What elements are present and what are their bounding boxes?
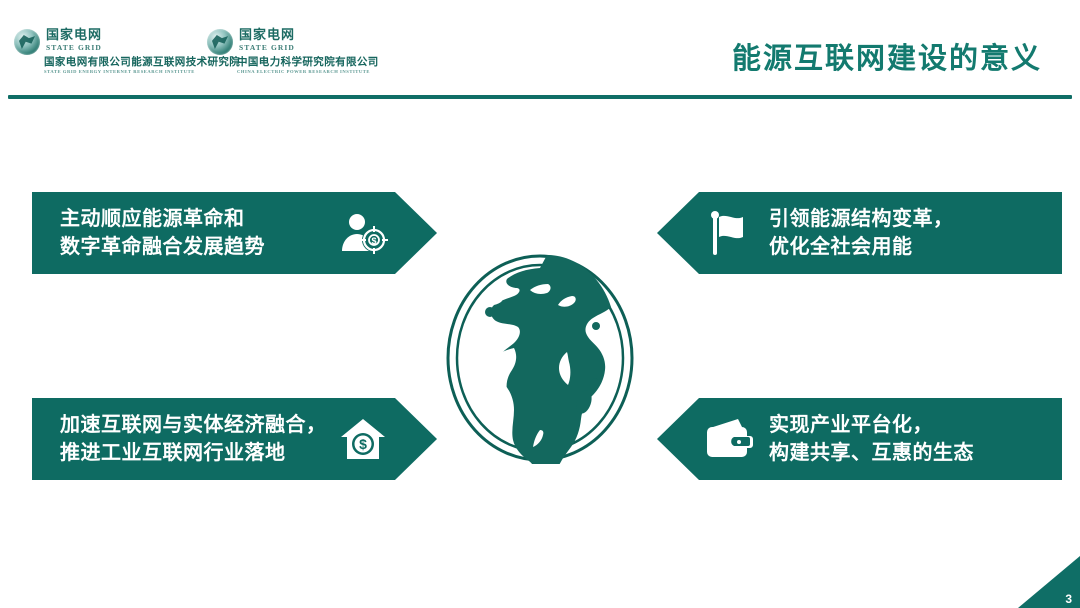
- banner-line-2: 推进工业互联网行业落地: [60, 439, 327, 467]
- banner-line-2: 构建共享、互惠的生态: [769, 439, 974, 467]
- page-title: 能源互联网建设的意义: [732, 42, 1042, 76]
- banner-line-1: 实现产业平台化，: [769, 411, 974, 439]
- slide: 国家电网 STATE GRID 国家电网有限公司能源互联网技术研究院 STATE…: [0, 0, 1080, 608]
- wallet-icon: [703, 413, 755, 465]
- globe-icon: [444, 252, 636, 464]
- banner-top-left[interactable]: 主动顺应能源革命和 数字革命融合发展趋势 $: [32, 192, 437, 274]
- svg-text:$: $: [371, 236, 376, 246]
- banner-text-block: 实现产业平台化， 构建共享、互惠的生态: [769, 411, 974, 467]
- state-grid-globe-logo-icon: [207, 29, 233, 55]
- logo-sub-en: CHINA ELECTRIC POWER RESEARCH INSTITUTE: [237, 68, 379, 75]
- logo-name-en: STATE GRID: [46, 42, 102, 53]
- page-number: 3: [1065, 593, 1072, 605]
- logo-subtitle-1: 国家电网有限公司能源互联网技术研究院 STATE GRID ENERGY INT…: [44, 56, 240, 75]
- logo-china-epri: 国家电网 STATE GRID: [207, 28, 295, 55]
- logo-sub-en: STATE GRID ENERGY INTERNET RESEARCH INST…: [44, 68, 240, 75]
- logo-name-cn: 国家电网: [239, 28, 295, 42]
- logo-sub-cn: 国家电网有限公司能源互联网技术研究院: [44, 56, 240, 68]
- slide-header: 国家电网 STATE GRID 国家电网有限公司能源互联网技术研究院 STATE…: [0, 0, 1080, 100]
- logo-name-cn: 国家电网: [46, 28, 102, 42]
- banner-bottom-left[interactable]: 加速互联网与实体经济融合， 推进工业互联网行业落地 $: [32, 398, 437, 480]
- logo-subtitle-2: 中国电力科学研究院有限公司 CHINA ELECTRIC POWER RESEA…: [237, 56, 379, 75]
- logo-primary-text: 国家电网 STATE GRID: [46, 28, 102, 53]
- banner-line-2: 优化全社会用能: [769, 233, 954, 261]
- banner-top-right[interactable]: 引领能源结构变革， 优化全社会用能: [657, 192, 1062, 274]
- banner-bottom-right[interactable]: 实现产业平台化， 构建共享、互惠的生态: [657, 398, 1062, 480]
- header-divider: [8, 95, 1072, 99]
- state-grid-globe-logo-icon: [14, 29, 40, 55]
- banner-text-block: 加速互联网与实体经济融合， 推进工业互联网行业落地: [60, 411, 327, 467]
- banner-line-2: 数字革命融合发展趋势: [60, 233, 265, 261]
- logo-state-grid-energy-internet: 国家电网 STATE GRID: [14, 28, 102, 55]
- banner-text-block: 引领能源结构变革， 优化全社会用能: [769, 205, 954, 261]
- flag-icon: [703, 207, 755, 259]
- house-money-icon: $: [337, 413, 389, 465]
- svg-text:$: $: [359, 436, 367, 452]
- logo-sub-cn: 中国电力科学研究院有限公司: [237, 56, 379, 68]
- banner-text-block: 主动顺应能源革命和 数字革命融合发展趋势: [60, 205, 265, 261]
- banner-line-1: 主动顺应能源革命和: [60, 205, 265, 233]
- banner-line-1: 引领能源结构变革，: [769, 205, 954, 233]
- logo-name-en: STATE GRID: [239, 42, 295, 53]
- logo-primary-text: 国家电网 STATE GRID: [239, 28, 295, 53]
- person-target-money-icon: $: [337, 207, 389, 259]
- banner-line-1: 加速互联网与实体经济融合，: [60, 411, 327, 439]
